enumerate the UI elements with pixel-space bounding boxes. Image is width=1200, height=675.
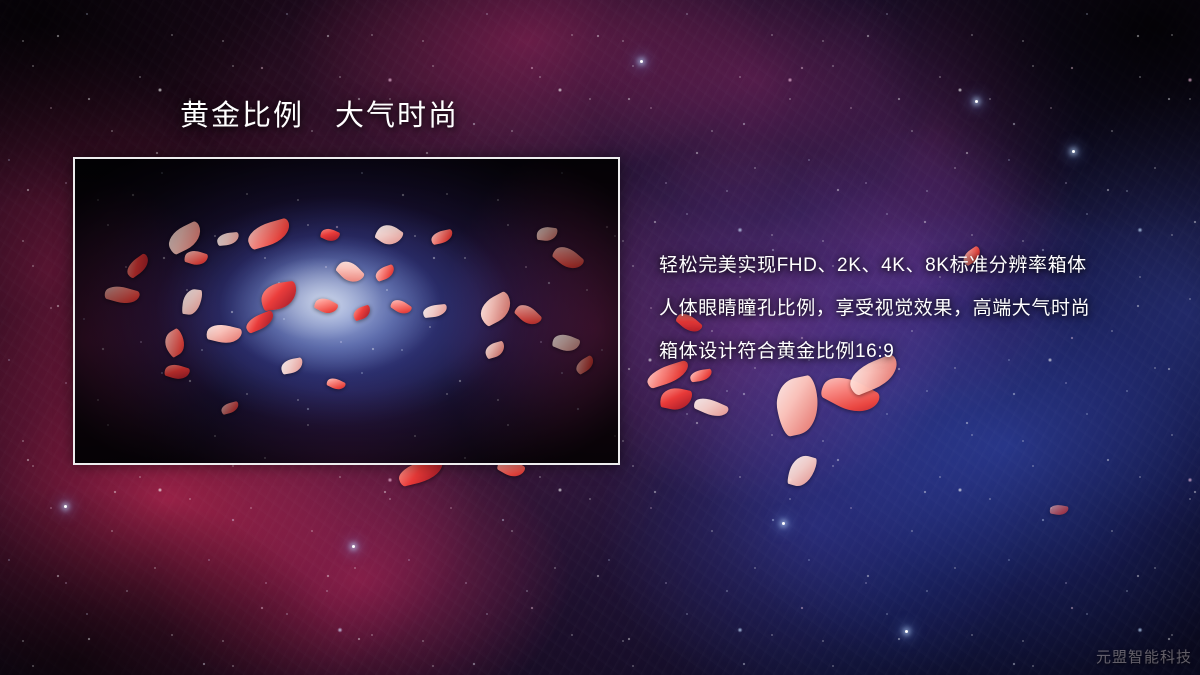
petal-decoration — [334, 256, 365, 287]
petal-decoration — [389, 296, 412, 317]
petal-decoration — [181, 288, 202, 316]
bright-star-icon — [905, 630, 908, 633]
petal-decoration — [1049, 504, 1068, 517]
inner-nebula-layer — [75, 159, 618, 463]
petal-decoration — [475, 290, 516, 327]
petal-decoration — [423, 304, 448, 318]
bright-star-icon — [782, 522, 785, 525]
petal-decoration — [163, 362, 190, 383]
petal-decoration — [352, 305, 373, 322]
petal-decoration — [659, 385, 693, 413]
inner-star-field — [75, 159, 618, 463]
petal-decoration — [573, 355, 596, 375]
petal-decoration — [164, 220, 206, 256]
petal-decoration — [205, 321, 242, 347]
petal-decoration — [536, 226, 558, 243]
petal-decoration — [103, 283, 140, 308]
feature-line-visual: 人体眼睛瞳孔比例，享受视觉效果，高端大气时尚 — [659, 299, 1179, 318]
petal-decoration — [259, 281, 298, 312]
petal-decoration — [123, 253, 152, 280]
petal-decoration — [245, 217, 293, 250]
petal-decoration — [689, 369, 712, 383]
petal-decoration — [692, 394, 729, 422]
petal-decoration — [772, 374, 825, 438]
petal-decoration — [374, 264, 397, 282]
petal-decoration — [551, 331, 581, 356]
petal-decoration — [326, 376, 347, 393]
petal-decoration — [220, 401, 240, 415]
petal-decoration — [183, 248, 208, 268]
petal-decoration — [319, 226, 340, 244]
bright-star-icon — [1072, 150, 1075, 153]
inner-star-field-md — [75, 159, 618, 463]
petal-decoration — [513, 300, 543, 330]
bright-star-icon — [640, 60, 643, 63]
petal-decoration — [313, 295, 339, 318]
petal-decoration — [786, 452, 818, 489]
feature-line-ratio: 箱体设计符合黄金比例16:9 — [659, 342, 1179, 361]
petal-decoration — [243, 310, 276, 334]
inner-vignette — [75, 159, 618, 463]
brand-watermark: 元盟智能科技 — [1096, 646, 1192, 667]
petal-decoration — [483, 341, 506, 360]
petal-decoration — [644, 360, 691, 390]
petal-decoration — [430, 229, 454, 245]
bright-star-icon — [64, 505, 67, 508]
preview-frame-16x9[interactable] — [73, 157, 620, 465]
feature-description-block: 轻松完美实现FHD、2K、4K、8K标准分辨率箱体 人体眼睛瞳孔比例，享受视觉效… — [659, 256, 1179, 361]
slide-canvas: 黄金比例 大气时尚 轻松完美实现FHD、2K、4K、8K标准分辨率箱体 人体眼睛… — [0, 0, 1200, 675]
petal-decoration — [280, 357, 304, 375]
feature-line-resolution: 轻松完美实现FHD、2K、4K、8K标准分辨率箱体 — [659, 256, 1179, 275]
page-title: 黄金比例 大气时尚 — [180, 100, 459, 133]
bright-star-icon — [352, 545, 355, 548]
petal-decoration — [216, 232, 239, 246]
petal-decoration — [160, 328, 189, 359]
bright-star-icon — [975, 100, 978, 103]
inner-core-glow — [75, 159, 618, 463]
petal-decoration — [373, 220, 404, 250]
petal-decoration — [551, 241, 586, 274]
